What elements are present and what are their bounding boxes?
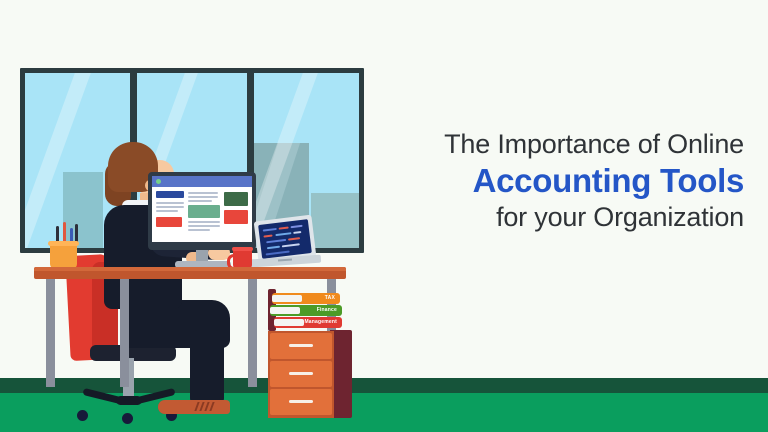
drawer[interactable] bbox=[270, 389, 332, 415]
mug-rim bbox=[232, 247, 253, 251]
chair-hub bbox=[116, 396, 142, 405]
drawer[interactable] bbox=[270, 361, 332, 387]
pen-cup-rim bbox=[48, 241, 79, 246]
book-tax: TAX bbox=[272, 293, 340, 304]
laptop-screen bbox=[258, 219, 312, 259]
chair-caster bbox=[77, 410, 88, 421]
book-pages bbox=[270, 307, 300, 314]
book-label: TAX bbox=[325, 296, 335, 301]
drawer-handle[interactable] bbox=[289, 372, 313, 375]
desk-leg bbox=[120, 279, 129, 387]
screen-block bbox=[188, 205, 220, 218]
book-finance: Finance bbox=[270, 305, 342, 316]
shoe-detail bbox=[196, 402, 218, 411]
baseboard bbox=[0, 378, 768, 393]
headline-line-1: The Importance of Online bbox=[392, 128, 744, 161]
building-silhouette bbox=[311, 193, 359, 248]
book-management: Management bbox=[274, 317, 342, 328]
headline-line-3: for your Organization bbox=[392, 201, 744, 235]
desk-leg bbox=[248, 279, 257, 387]
screen-header-bar bbox=[152, 176, 252, 187]
desk-leg bbox=[46, 279, 55, 387]
screen-block bbox=[224, 210, 248, 224]
book-label: Finance bbox=[317, 308, 337, 313]
desk-top-highlight bbox=[34, 267, 346, 271]
drawer-handle[interactable] bbox=[289, 344, 313, 347]
book-pages bbox=[272, 295, 302, 302]
monitor-screen bbox=[152, 176, 252, 242]
book-pages bbox=[274, 319, 304, 326]
pen-cup bbox=[50, 243, 77, 269]
screen-status-dot bbox=[156, 179, 161, 184]
chair-caster bbox=[122, 413, 133, 424]
screen-block bbox=[224, 192, 248, 206]
drawer[interactable] bbox=[270, 333, 332, 359]
headline: The Importance of Online Accounting Tool… bbox=[392, 128, 744, 234]
book-label: Management bbox=[304, 320, 337, 325]
drawer-handle[interactable] bbox=[289, 400, 313, 403]
headline-line-2: Accounting Tools bbox=[392, 161, 744, 201]
person-shoe bbox=[158, 400, 230, 414]
illustration-canvas: TAX Finance Management The Importance of… bbox=[0, 0, 768, 432]
screen-block bbox=[156, 217, 182, 227]
person-shin bbox=[190, 330, 224, 406]
building-silhouette bbox=[63, 172, 103, 248]
screen-block bbox=[156, 191, 184, 198]
coffee-mug bbox=[233, 249, 252, 269]
